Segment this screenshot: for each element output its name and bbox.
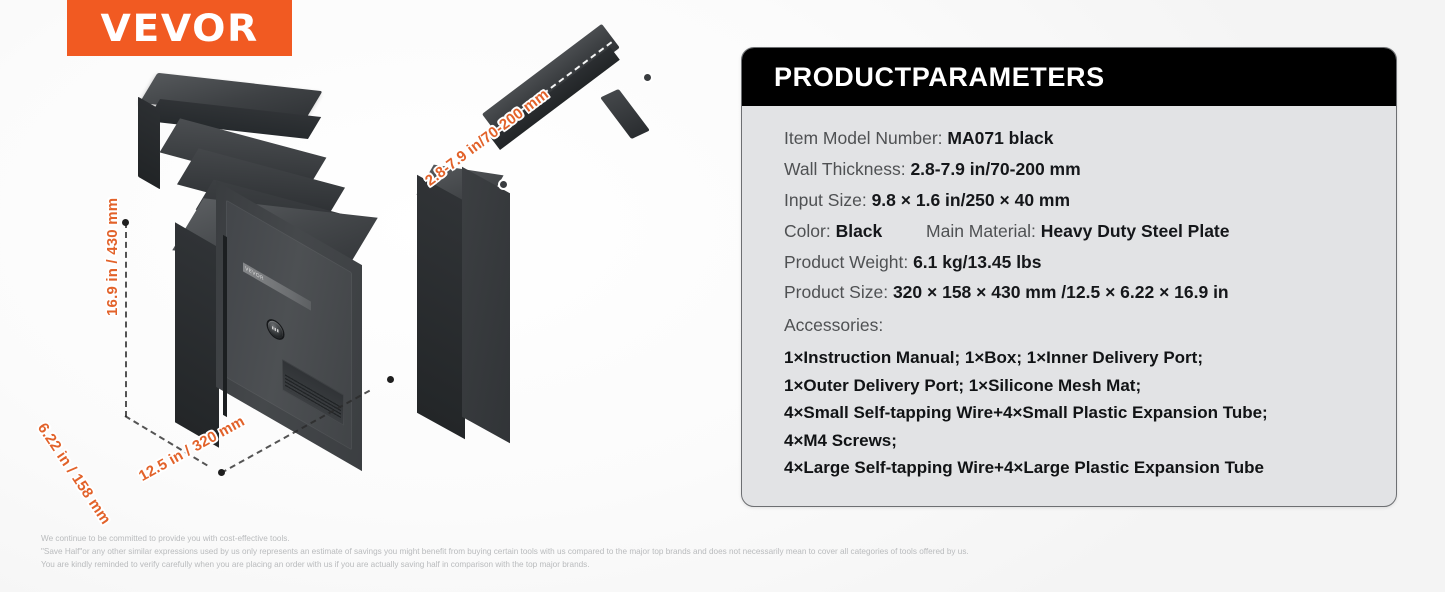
accessory-line: 4×Small Self-tapping Wire+4×Small Plasti… (784, 399, 1366, 427)
mailbox-body-side (175, 222, 219, 447)
mailbox-canopy-side (138, 97, 160, 190)
accessory-line: 4×M4 Screws; (784, 427, 1366, 455)
wall-thickness-endpoint-far (642, 72, 653, 83)
spec-row-input-size: Input Size: 9.8 × 1.6 in/250 × 40 mm (784, 190, 1366, 212)
spec-value-input-size: 9.8 × 1.6 in/250 × 40 mm (872, 190, 1070, 210)
height-dash-line (125, 222, 127, 417)
panel-body: Item Model Number: MA071 black Wall Thic… (742, 106, 1396, 482)
spec-label-input-size: Input Size: (784, 190, 867, 210)
dimension-dot-corner (218, 469, 225, 476)
spec-label-product-size: Product Size: (784, 282, 888, 302)
spec-value-wall-thickness: 2.8-7.9 in/70-200 mm (910, 159, 1080, 179)
accessory-line: 1×Instruction Manual; 1×Box; 1×Inner Del… (784, 344, 1366, 372)
spec-row-model: Item Model Number: MA071 black (784, 128, 1366, 150)
disclaimer-line-2: "Save Half"or any other similar expressi… (41, 546, 1331, 559)
accessory-line: 1×Outer Delivery Port; 1×Silicone Mesh M… (784, 372, 1366, 400)
mailbox-door-edge (223, 235, 227, 417)
dimension-label-height: 16.9 in / 430 mm (104, 198, 121, 316)
rear-view-front (462, 167, 510, 444)
spec-label-model: Item Model Number: (784, 128, 943, 148)
spec-value-material: Heavy Duty Steel Plate (1041, 221, 1230, 241)
vevor-logo: VEVOR (67, 0, 292, 56)
accessory-line: 4×Large Self-tapping Wire+4×Large Plasti… (784, 454, 1366, 482)
spec-row-wall-thickness: Wall Thickness: 2.8-7.9 in/70-200 mm (784, 159, 1366, 181)
spec-value-weight: 6.1 kg/13.45 lbs (913, 252, 1041, 272)
accessories-label: Accessories: (784, 315, 1366, 336)
dimension-dot-right (387, 376, 394, 383)
disclaimer-line-1: We continue to be committed to provide y… (41, 533, 1331, 546)
spec-row-color-material: Color: Black Main Material: Heavy Duty S… (784, 221, 1366, 243)
wall-thickness-endpoint-near (498, 179, 509, 190)
spec-row-weight: Product Weight: 6.1 kg/13.45 lbs (784, 252, 1366, 274)
spec-label-color: Color: (784, 221, 831, 241)
product-parameters-panel: PRODUCTPARAMETERS Item Model Number: MA0… (741, 47, 1397, 507)
spec-label-material: Main Material: (926, 221, 1036, 241)
panel-title: PRODUCTPARAMETERS (774, 62, 1105, 93)
rear-view-side (417, 175, 465, 440)
spec-value-product-size: 320 × 158 × 430 mm /12.5 × 6.22 × 16.9 i… (893, 282, 1229, 302)
accessories-list: 1×Instruction Manual; 1×Box; 1×Inner Del… (784, 344, 1366, 482)
spec-row-product-size: Product Size: 320 × 158 × 430 mm /12.5 ×… (784, 282, 1366, 304)
spec-value-model: MA071 black (947, 128, 1053, 148)
disclaimer: We continue to be committed to provide y… (41, 533, 1331, 572)
panel-header: PRODUCTPARAMETERS (742, 48, 1396, 106)
disclaimer-line-3: You are kindly reminded to verify carefu… (41, 559, 1331, 572)
product-spec-banner: VEVOR VEVOR 16.9 in / 430 mm 6.22 in (0, 0, 1445, 592)
spec-label-wall-thickness: Wall Thickness: (784, 159, 906, 179)
vevor-logo-text: VEVOR (100, 10, 258, 47)
spec-label-weight: Product Weight: (784, 252, 908, 272)
wall-mount-plate (600, 89, 650, 139)
product-illustration: VEVOR (30, 60, 720, 490)
spec-value-color: Black (836, 221, 883, 241)
dimension-dot-top (122, 219, 129, 226)
